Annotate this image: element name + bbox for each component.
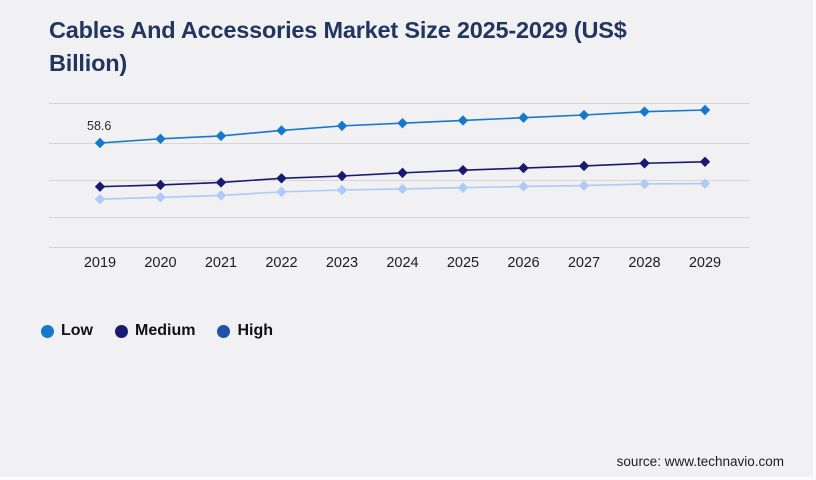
data-point-medium-2025[interactable] [458,165,468,175]
legend-item-low[interactable]: Low [41,322,93,340]
data-point-high-2025[interactable] [458,182,468,192]
x-axis-tick-2020: 2020 [126,255,196,271]
data-point-low-2020[interactable] [155,134,165,144]
x-axis-tick-labels: 2019202020212022202320242025202620272028… [49,255,749,277]
x-axis-tick-2026: 2026 [489,255,559,271]
data-point-high-2021[interactable] [216,190,226,200]
x-axis-tick-2028: 2028 [610,255,680,271]
data-point-medium-2021[interactable] [216,177,226,187]
legend-label-medium: Medium [135,322,195,340]
data-point-medium-2022[interactable] [276,173,286,183]
chart-legend: Low Medium High [41,322,273,340]
data-point-medium-2026[interactable] [518,163,528,173]
data-point-high-2027[interactable] [579,180,589,190]
data-point-medium-2029[interactable] [700,157,710,167]
data-point-high-2028[interactable] [639,179,649,189]
data-point-high-2024[interactable] [397,184,407,194]
legend-label-low: Low [61,322,93,340]
x-axis-tick-2025: 2025 [428,255,498,271]
data-point-high-2029[interactable] [700,178,710,188]
data-point-low-2025[interactable] [458,115,468,125]
data-point-medium-2019[interactable] [95,181,105,191]
data-point-medium-2024[interactable] [397,168,407,178]
data-point-low-2026[interactable] [518,113,528,123]
x-axis-line [49,247,749,248]
x-axis-tick-2029: 2029 [670,255,740,271]
legend-swatch-low-icon [41,325,54,338]
data-point-medium-2027[interactable] [579,161,589,171]
data-point-medium-2023[interactable] [337,171,347,181]
data-point-low-2029[interactable] [700,105,710,115]
x-axis-tick-2027: 2027 [549,255,619,271]
legend-label-high: High [237,322,273,340]
page-title: Cables And Accessories Market Size 2025-… [49,14,709,80]
legend-swatch-medium-icon [115,325,128,338]
data-point-medium-2028[interactable] [639,158,649,168]
data-point-low-2021[interactable] [216,131,226,141]
plot-area [49,96,749,248]
legend-item-high[interactable]: High [217,322,273,340]
legend-swatch-high-icon [217,325,230,338]
x-axis-tick-2021: 2021 [186,255,256,271]
series-layer [49,96,749,248]
data-point-high-2019[interactable] [95,194,105,204]
data-point-low-2022[interactable] [276,125,286,135]
data-label-low-2019: 58.6 [87,119,111,133]
x-axis-tick-2024: 2024 [368,255,438,271]
data-point-high-2022[interactable] [276,187,286,197]
legend-item-medium[interactable]: Medium [115,322,195,340]
x-axis-tick-2019: 2019 [65,255,135,271]
data-point-low-2027[interactable] [579,110,589,120]
x-axis-tick-2022: 2022 [247,255,317,271]
data-point-low-2024[interactable] [397,118,407,128]
source-attribution: source: www.technavio.com [617,454,784,469]
data-point-low-2023[interactable] [337,121,347,131]
data-point-medium-2020[interactable] [155,180,165,190]
x-axis-tick-2023: 2023 [307,255,377,271]
data-point-high-2023[interactable] [337,185,347,195]
data-point-low-2019[interactable] [95,138,105,148]
data-point-high-2020[interactable] [155,192,165,202]
data-point-high-2026[interactable] [518,181,528,191]
chart-canvas: Cables And Accessories Market Size 2025-… [0,0,816,480]
data-point-low-2028[interactable] [639,106,649,116]
